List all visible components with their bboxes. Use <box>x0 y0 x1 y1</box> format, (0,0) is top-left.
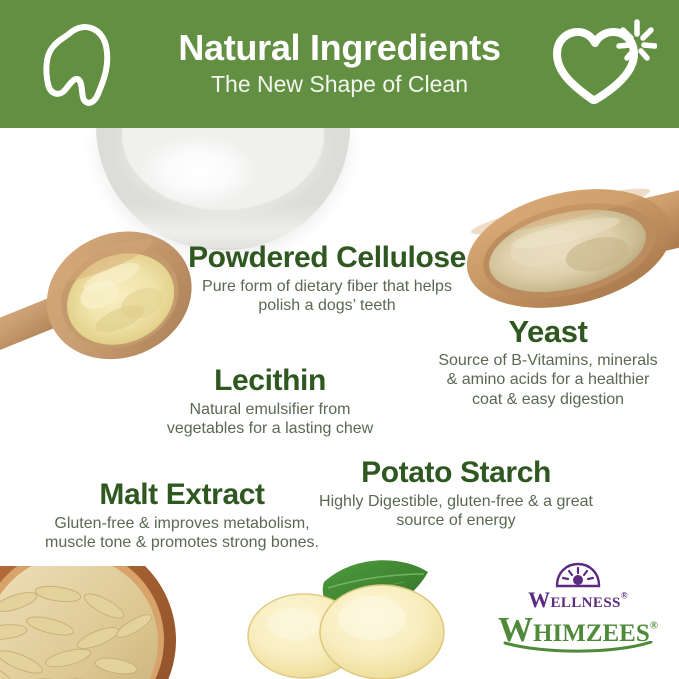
logo-wellness-registered: ® <box>621 591 628 601</box>
ingredient-yeast: Yeast Source of B-Vitamins, minerals & a… <box>434 316 662 409</box>
page-title: Natural Ingredients <box>178 29 500 67</box>
ingredient-title: Malt Extract <box>44 480 320 511</box>
ingredient-description: Natural emulsifier from vegetables for a… <box>162 400 378 439</box>
malt-barley-photo <box>0 566 220 679</box>
page-subtitle: The New Shape of Clean <box>178 71 500 99</box>
brand-logo: Wellness® Whimzees® <box>492 562 664 668</box>
potato-starch-photo <box>232 548 460 679</box>
ingredient-title: Powdered Cellulose <box>184 243 470 274</box>
ingredient-powdered-cellulose: Powdered Cellulose Pure form of dietary … <box>184 243 470 316</box>
ingredient-lecithin: Lecithin Natural emulsifier from vegetab… <box>162 366 378 439</box>
logo-wellness-word: Wellness <box>528 587 621 612</box>
logo-whimzees-registered: ® <box>650 619 658 631</box>
ingredient-title: Lecithin <box>162 366 378 397</box>
ingredient-description: Pure form of dietary fiber that helps po… <box>184 277 470 316</box>
infographic-canvas: Natural Ingredients The New Shape of Cle… <box>0 0 679 679</box>
logo-whimzees-word: Whimzees <box>498 610 650 649</box>
ingredient-description: Source of B-Vitamins, minerals & amino a… <box>434 351 662 410</box>
sunburst-icon <box>555 562 601 588</box>
ingredient-description: Highly Digestible, gluten-free & a great… <box>318 492 594 531</box>
logo-whimzees-text: Whimzees® <box>492 612 664 647</box>
banner-text-group: Natural Ingredients The New Shape of Cle… <box>168 29 510 98</box>
tooth-icon <box>36 18 128 114</box>
ingredient-title: Potato Starch <box>318 458 594 489</box>
heart-sparkle-icon <box>547 12 657 112</box>
ingredient-title: Yeast <box>434 316 662 348</box>
ingredient-description: Gluten-free & improves metabolism, muscl… <box>44 514 320 553</box>
ingredient-malt-extract: Malt Extract Gluten-free & improves meta… <box>44 480 320 553</box>
logo-wellness-text: Wellness® <box>492 589 664 611</box>
yeast-scoop-photo <box>453 172 679 324</box>
ingredient-potato-starch: Potato Starch Highly Digestible, gluten-… <box>318 458 594 531</box>
header-banner: Natural Ingredients The New Shape of Cle… <box>0 0 679 128</box>
